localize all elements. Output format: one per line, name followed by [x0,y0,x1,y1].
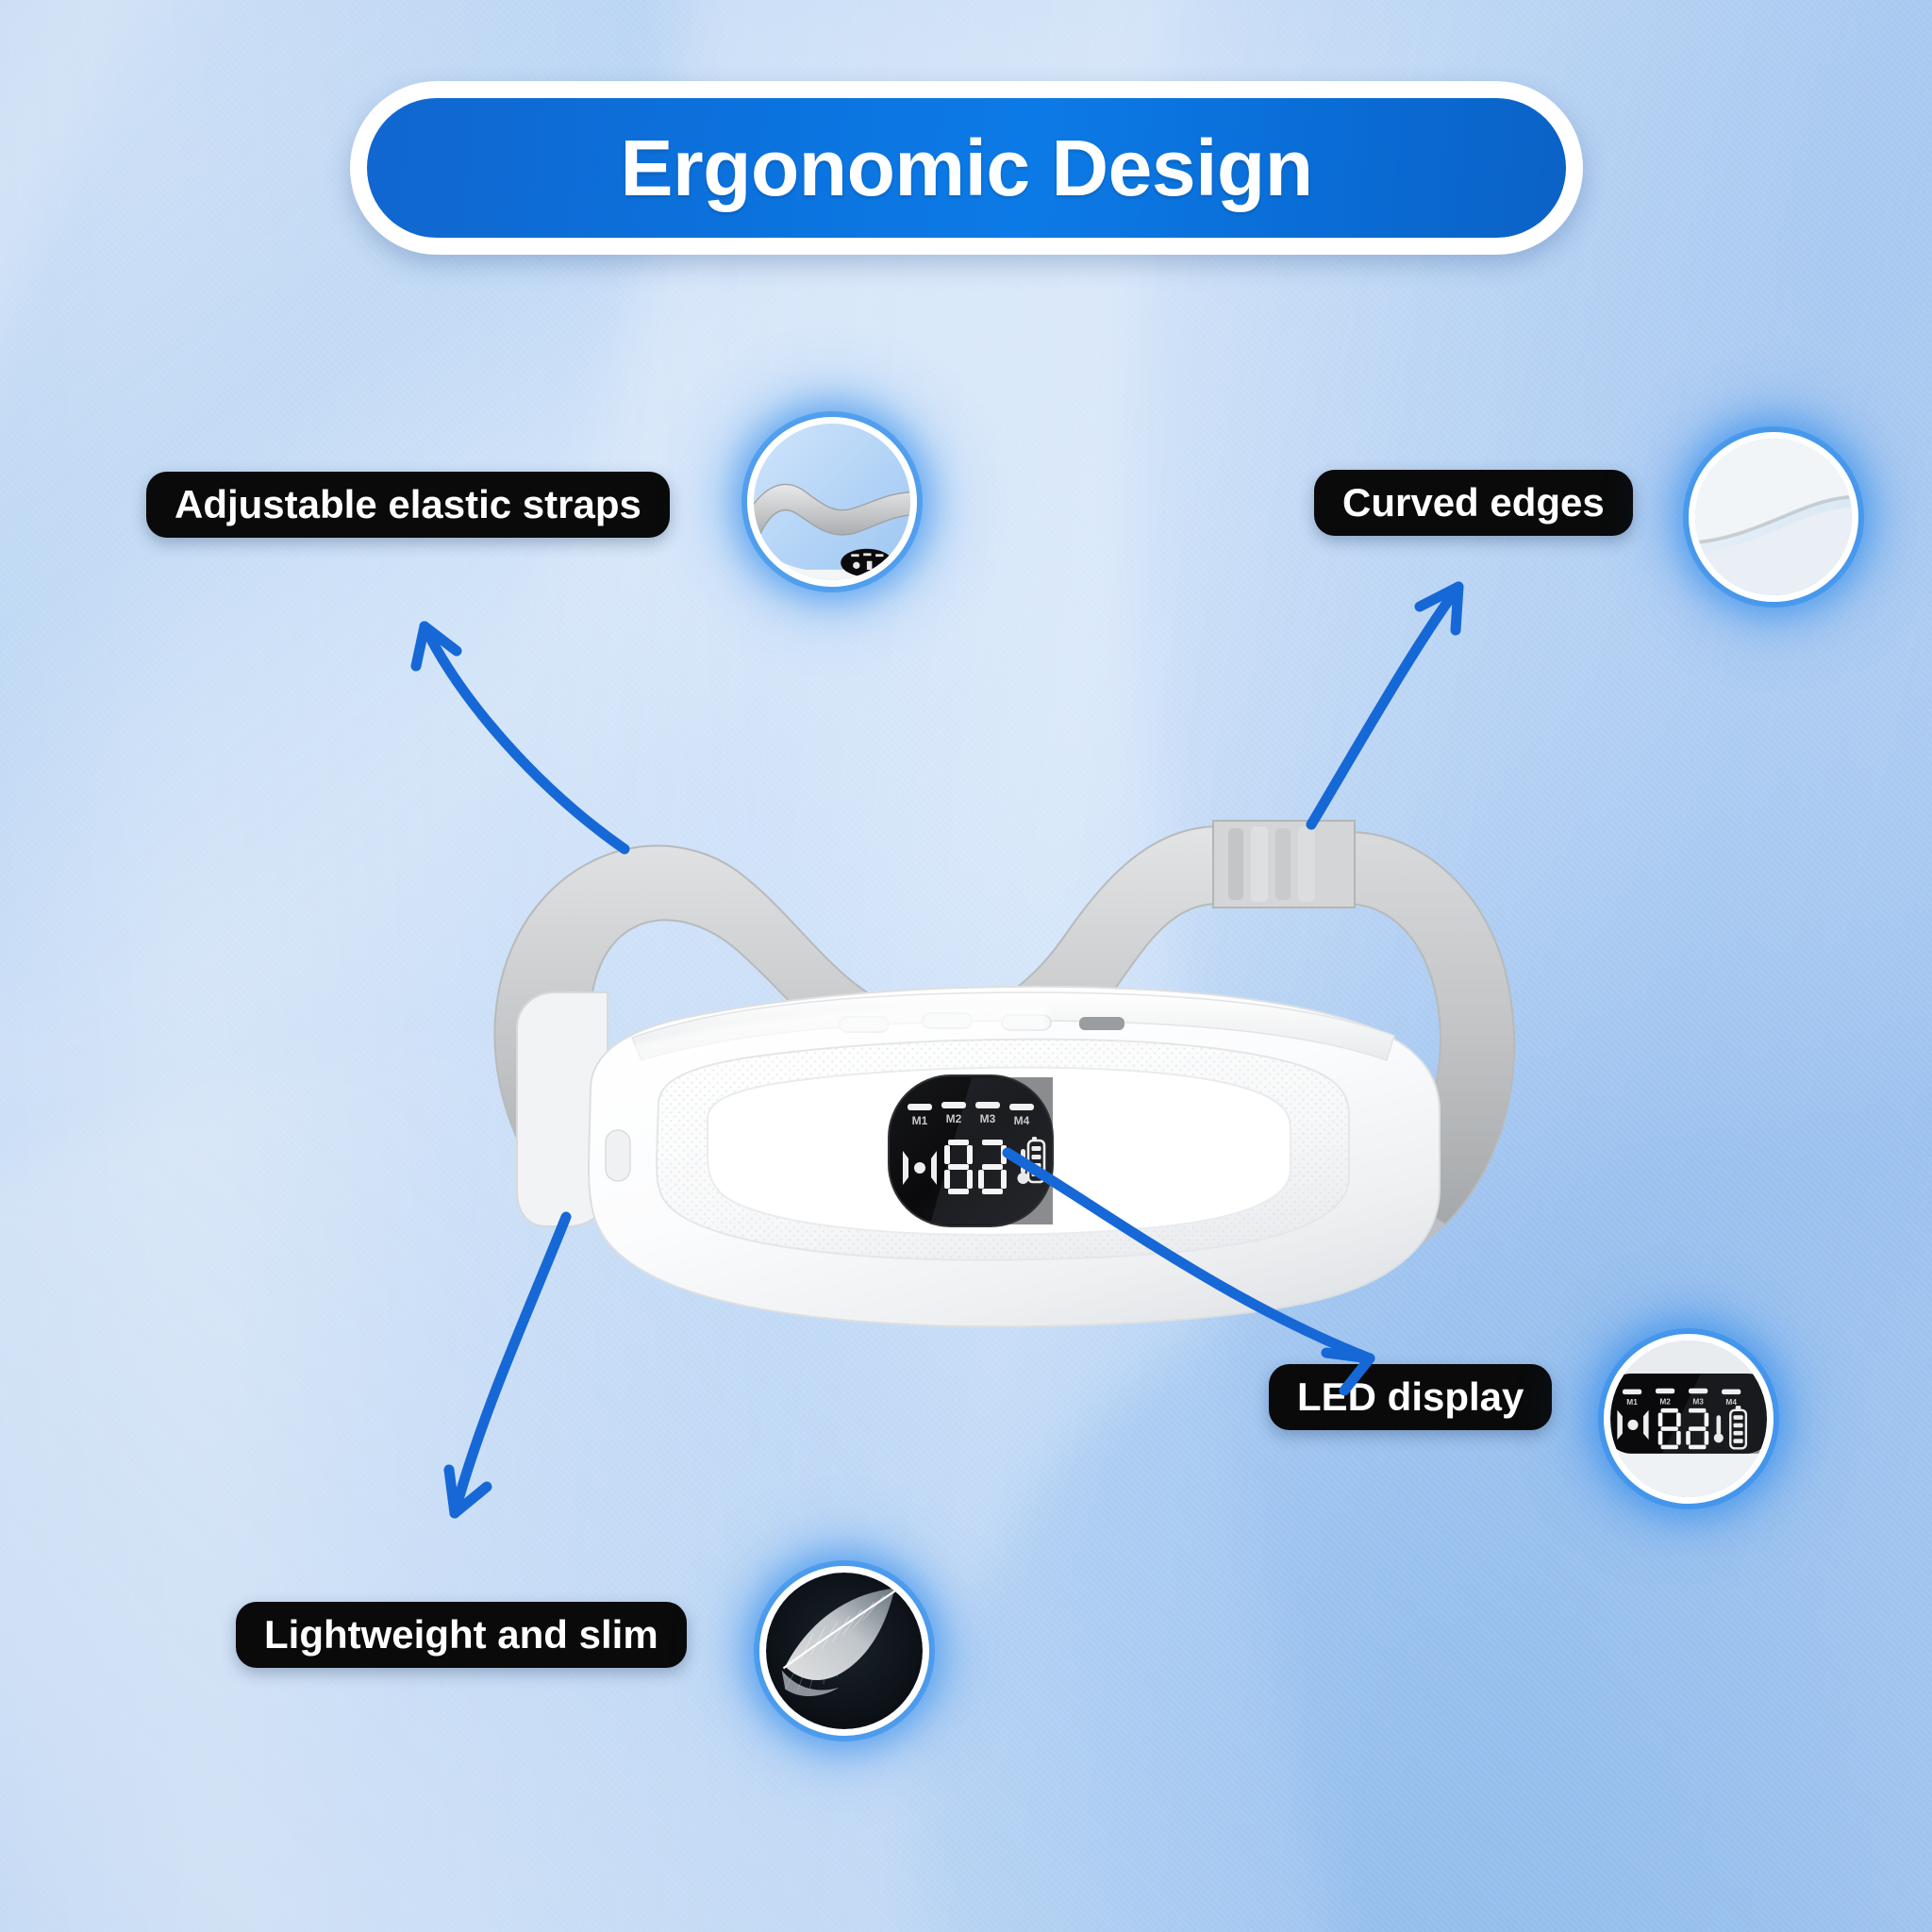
svg-text:M4: M4 [1014,1114,1030,1127]
product-illustration: M1 M2 M3 M4 [406,660,1557,1358]
svg-text:M3: M3 [1692,1396,1704,1406]
page-title: Ergonomic Design [620,128,1312,208]
svg-text:M2: M2 [946,1112,962,1125]
svg-text:M2: M2 [1659,1396,1671,1406]
feature-label-led-display[interactable]: LED display [1269,1364,1552,1430]
product-led-screen: M1 M2 M3 M4 [889,1075,1053,1226]
feature-thumbnail-feather[interactable] [759,1566,929,1736]
product-image: M1 M2 M3 M4 [406,660,1557,1358]
feature-label-curved-edges[interactable]: Curved edges [1314,470,1633,536]
page-title-banner: Ergonomic Design [350,81,1583,255]
curved-edge-closeup-icon [1695,439,1852,595]
feature-thumbnail-curved-edge-closeup[interactable] [1689,432,1858,602]
feature-label-text: Curved edges [1342,483,1605,523]
led-display-closeup-icon: M1 M2 M3 M4 [1610,1341,1767,1497]
svg-text:M4: M4 [1725,1397,1737,1407]
svg-text:M3: M3 [980,1112,996,1125]
strap-closeup-icon [754,424,910,580]
feature-label-text: Adjustable elastic straps [175,485,641,525]
infographic-canvas: Ergonomic Design [0,0,1932,1932]
feature-thumbnail-led-display-closeup[interactable]: M1 M2 M3 M4 [1604,1334,1774,1504]
feature-thumbnail-strap-closeup[interactable] [747,417,917,587]
feature-label-text: Lightweight and slim [264,1615,658,1655]
feature-label-lightweight-and-slim[interactable]: Lightweight and slim [236,1602,687,1668]
feature-label-text: LED display [1297,1377,1524,1417]
svg-text:M1: M1 [1626,1397,1638,1407]
feature-label-adjustable-elastic-straps[interactable]: Adjustable elastic straps [146,472,670,538]
page-title-banner-fill: Ergonomic Design [367,98,1566,238]
svg-text:M1: M1 [912,1114,928,1127]
feather-icon [766,1573,923,1729]
